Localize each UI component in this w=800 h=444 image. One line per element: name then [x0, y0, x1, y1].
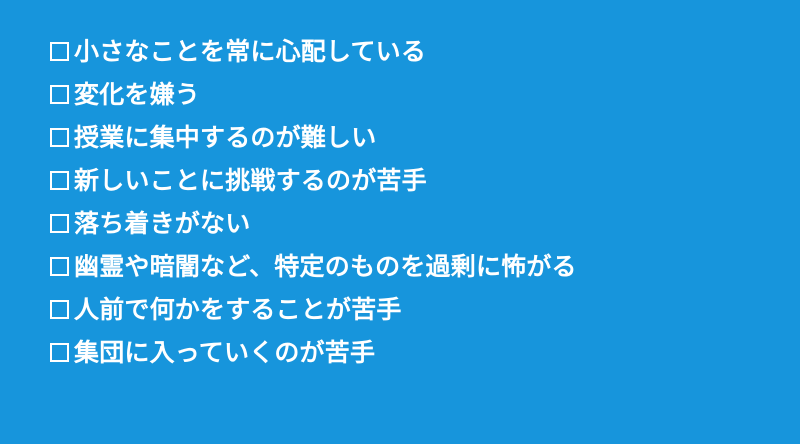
list-item[interactable]: 幽霊や暗闇など、特定のものを過剰に怖がる: [0, 245, 800, 288]
list-item-label: 幽霊や暗闇など、特定のものを過剰に怖がる: [74, 254, 577, 279]
list-item[interactable]: 新しいことに挑戦するのが苦手: [0, 159, 800, 202]
unchecked-checkbox-icon[interactable]: [50, 257, 69, 276]
unchecked-checkbox-icon[interactable]: [50, 214, 69, 233]
list-item-label: 集団に入っていくのが苦手: [74, 340, 375, 365]
list-item[interactable]: 変化を嫌う: [0, 73, 800, 116]
unchecked-checkbox-icon[interactable]: [50, 171, 69, 190]
list-item-label: 落ち着きがない: [74, 211, 250, 236]
list-item-label: 新しいことに挑戦するのが苦手: [74, 168, 427, 193]
list-item-label: 変化を嫌う: [74, 82, 200, 107]
list-item[interactable]: 授業に集中するのが難しい: [0, 116, 800, 159]
list-item-label: 授業に集中するのが難しい: [74, 125, 376, 150]
list-item[interactable]: 小さなことを常に心配している: [0, 30, 800, 73]
unchecked-checkbox-icon[interactable]: [50, 343, 69, 362]
list-item[interactable]: 人前で何かをすることが苦手: [0, 288, 800, 331]
checklist-slide: 小さなことを常に心配している 変化を嫌う 授業に集中するのが難しい 新しいことに…: [0, 0, 800, 444]
list-item[interactable]: 落ち着きがない: [0, 202, 800, 245]
unchecked-checkbox-icon[interactable]: [50, 128, 69, 147]
unchecked-checkbox-icon[interactable]: [50, 85, 69, 104]
list-item[interactable]: 集団に入っていくのが苦手: [0, 331, 800, 374]
list-item-label: 小さなことを常に心配している: [74, 39, 426, 64]
unchecked-checkbox-icon[interactable]: [50, 42, 69, 61]
list-item-label: 人前で何かをすることが苦手: [74, 297, 402, 322]
checklist: 小さなことを常に心配している 変化を嫌う 授業に集中するのが難しい 新しいことに…: [0, 30, 800, 374]
unchecked-checkbox-icon[interactable]: [50, 300, 69, 319]
